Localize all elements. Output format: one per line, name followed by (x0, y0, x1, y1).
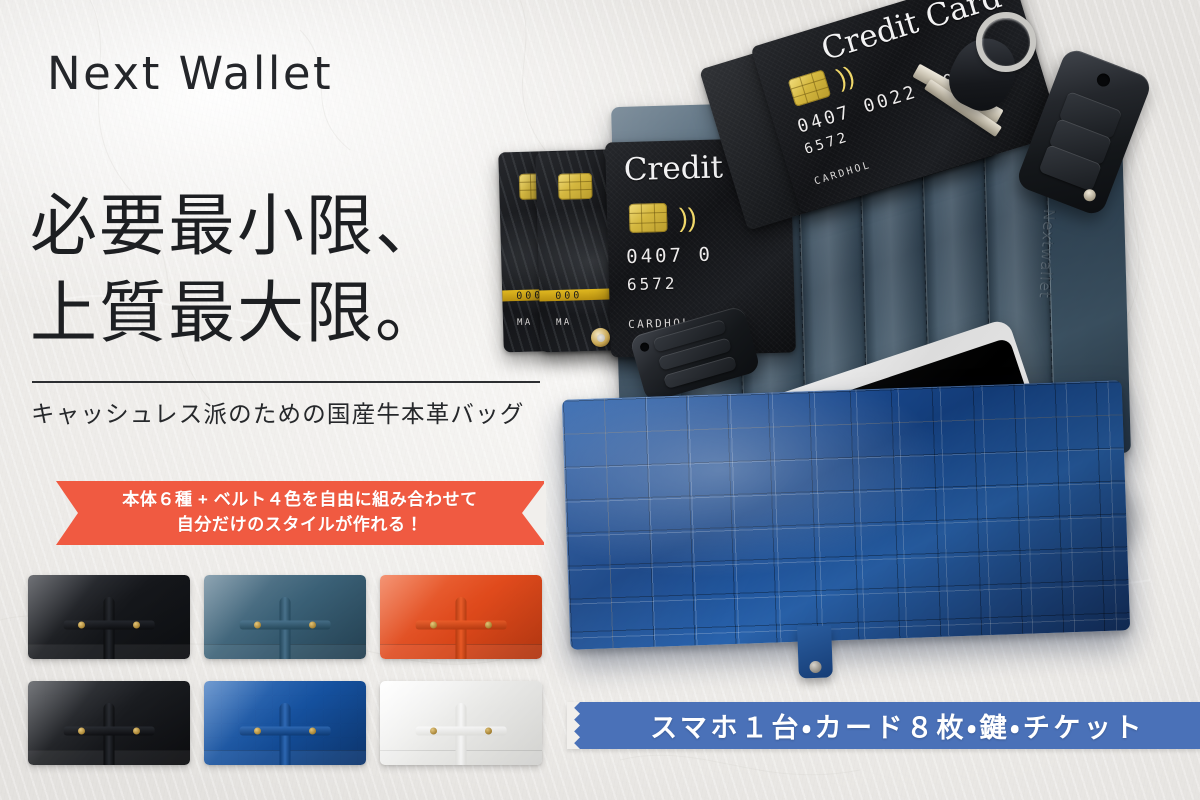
ribbon-line-2: 自分だけのスタイルが作れる！ (177, 513, 423, 538)
subtitle: キャッシュレス派のための国産牛本革バッグ (31, 395, 551, 429)
brand-logo: Next Wallet (47, 47, 333, 100)
title-divider (32, 381, 540, 383)
swatch-black-smooth-wallet[interactable] (28, 575, 190, 659)
headline-line-1: 必要最小限、 (30, 187, 444, 265)
swatch-orange-wallet[interactable] (380, 575, 542, 659)
capacity-banner: スマホ１台・カード８枚・鍵・チケット (567, 702, 1200, 749)
card-number-line2: 6572 (627, 274, 678, 294)
poster-canvas: 000 MA 000 MA Credit )) (0, 0, 1200, 800)
feature-ribbon: 本体６種 + ベルト４色を自由に組み合わせて 自分だけのスタイルが作れる！ (56, 481, 544, 545)
ribbon-line-1: 本体６種 + ベルト４色を自由に組み合わせて (122, 488, 478, 513)
swatch-blue-croc-wallet[interactable] (204, 681, 366, 765)
swatch-black-croc-wallet[interactable] (28, 681, 190, 765)
card-brand-label: Credit (623, 149, 723, 188)
wallet-croc-flap (562, 380, 1130, 649)
headline-line-2: 上質最大限。 (30, 270, 560, 357)
swatch-steel-blue-wallet[interactable] (204, 575, 366, 659)
wallet-eyelet-left (591, 328, 610, 347)
page-title: 必要最小限、 上質最大限。 (30, 183, 560, 357)
ribbon-right-notch (510, 481, 546, 545)
swatch-white-wallet[interactable] (380, 681, 542, 765)
color-swatch-grid (28, 575, 548, 775)
banner-zigzag-edge (567, 702, 580, 749)
card-number-line1: 0407 0 (626, 244, 713, 268)
product-photo: 000 MA 000 MA Credit )) (548, 0, 1200, 690)
wallet-closure-tab (797, 625, 833, 678)
capacity-banner-text: スマホ１台・カード８枚・鍵・チケット (622, 706, 1145, 745)
